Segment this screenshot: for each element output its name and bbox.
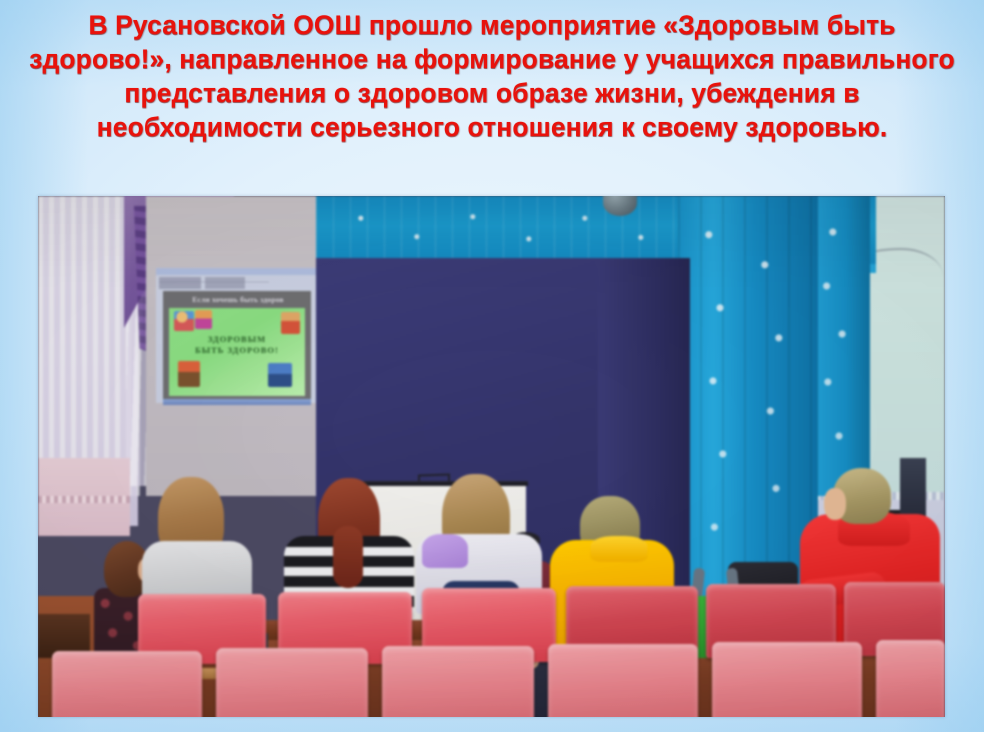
event-photograph: Если хочешь быть здоров ЗДОРОВЫМ БЫТЬ ЗД… xyxy=(38,196,945,717)
slide-clipart-4 xyxy=(178,361,200,387)
projected-slide-main-text: ЗДОРОВЫМ БЫТЬ ЗДОРОВО! xyxy=(169,334,305,356)
projected-slide-main-text-line1: ЗДОРОВЫМ xyxy=(169,334,305,345)
slide-clipart-1 xyxy=(174,311,194,331)
title-line-1: В Русановской ООШ прошло мероприятие «Зд… xyxy=(14,8,970,42)
person-standing-right xyxy=(900,458,926,522)
page-title: В Русановской ООШ прошло мероприятие «Зд… xyxy=(14,8,970,144)
photo-content: Если хочешь быть здоров ЗДОРОВЫМ БЫТЬ ЗД… xyxy=(38,196,945,717)
presentation-slide: В Русановской ООШ прошло мероприятие «Зд… xyxy=(0,0,984,732)
title-line-3: представления о здоровом образе жизни, у… xyxy=(14,76,970,110)
student-5-face xyxy=(824,488,846,520)
seat-row-b-3 xyxy=(382,646,534,717)
pink-wall-panel-trim xyxy=(38,496,130,503)
seat-row-b-6 xyxy=(876,640,945,717)
slide-clipart-2 xyxy=(195,310,212,329)
seat-row-b-5 xyxy=(712,642,862,717)
seat-row-b-1 xyxy=(52,651,202,717)
seat-row-b-4 xyxy=(548,644,698,717)
title-line-4: необходимости серьезного отношения к сво… xyxy=(14,110,970,144)
slide-clipart-5 xyxy=(268,363,292,387)
student-3-purple-hood xyxy=(422,534,468,568)
projected-slide-small-text xyxy=(159,277,269,289)
projected-slide-main-text-line2: БЫТЬ ЗДОРОВО! xyxy=(169,345,305,356)
seat-row-b-2 xyxy=(216,648,368,717)
projected-taskbar xyxy=(163,399,311,405)
slide-clipart-3 xyxy=(281,312,300,334)
title-line-2: здорово!», направленное на формирование … xyxy=(14,42,970,76)
student-4-hood xyxy=(590,536,648,562)
student-2-ponytail xyxy=(333,526,363,588)
projected-slide-topbar xyxy=(156,268,320,275)
projected-slide-heading: Если хочешь быть здоров xyxy=(171,295,305,304)
